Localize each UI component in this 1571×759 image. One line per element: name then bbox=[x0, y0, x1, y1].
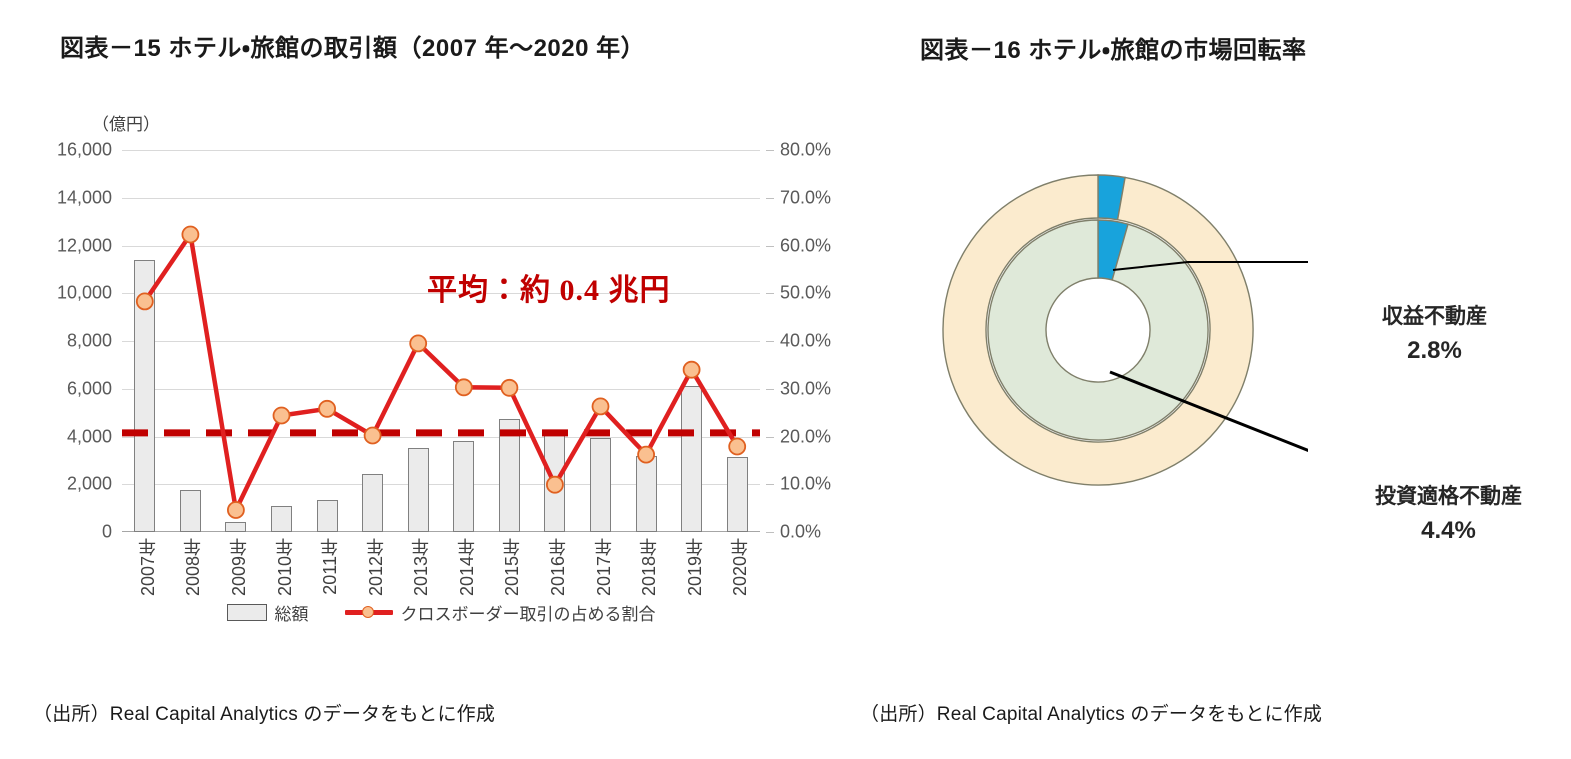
y2-tickmark-30 bbox=[766, 389, 774, 390]
figure-15-panel: 図表－15 ホテル・旅館の取引額（2007 年～2020 年） （億円） 0 2… bbox=[0, 0, 840, 759]
y2-tick-80: 80.0% bbox=[780, 140, 831, 161]
y-tick-14000: 14,000 bbox=[57, 187, 112, 208]
nested-donut-svg bbox=[888, 120, 1308, 540]
y2-tick-40: 40.0% bbox=[780, 331, 831, 352]
x-label-2019: 2019年 bbox=[682, 538, 708, 596]
average-annotation: 平均：約 0.4 兆円 bbox=[427, 265, 671, 309]
line-marker-2014 bbox=[456, 379, 472, 395]
x-label-2007: 2007年 bbox=[135, 538, 161, 596]
y2-tick-70: 70.0% bbox=[780, 187, 831, 208]
line-marker-2012 bbox=[365, 428, 381, 444]
callout-income-property: 収益不動産 2.8% bbox=[1382, 300, 1487, 365]
y-tick-0: 0 bbox=[102, 522, 112, 543]
y-tick-6000: 6,000 bbox=[67, 378, 112, 399]
y2-tickmark-50 bbox=[766, 293, 774, 294]
line-marker-2016 bbox=[547, 477, 563, 493]
legend-bar-swatch-icon bbox=[227, 604, 267, 621]
x-label-2010: 2010年 bbox=[272, 538, 298, 596]
figure-sheet: 図表－15 ホテル・旅館の取引額（2007 年～2020 年） （億円） 0 2… bbox=[0, 0, 1571, 759]
y2-tick-0: 0.0% bbox=[780, 522, 821, 543]
line-marker-2017 bbox=[593, 398, 609, 414]
figure-16-title: 図表－16 ホテル・旅館の市場回転率 bbox=[920, 30, 1307, 65]
figure-16-panel: 図表－16 ホテル・旅館の市場回転率 収益不動産 2.8% 投資適格不動産 4.… bbox=[840, 0, 1571, 759]
line-marker-2018 bbox=[638, 447, 654, 463]
y2-tickmark-10 bbox=[766, 484, 774, 485]
y-tick-2000: 2,000 bbox=[67, 474, 112, 495]
transaction-volume-combo-chart: （億円） 0 2,000 4,000 6,000 8,000 10,000 12… bbox=[0, 100, 840, 660]
y2-tickmark-60 bbox=[766, 246, 774, 247]
donut-inner-slice-1 bbox=[988, 220, 1208, 440]
callout-income-property-label: 収益不動産 bbox=[1382, 300, 1487, 330]
line-marker-2008 bbox=[182, 227, 198, 243]
callout-investment-grade-property: 投資適格不動産 4.4% bbox=[1375, 480, 1522, 545]
line-marker-2009 bbox=[228, 502, 244, 518]
y2-tick-60: 60.0% bbox=[780, 235, 831, 256]
y-tick-4000: 4,000 bbox=[67, 426, 112, 447]
y2-tick-20: 20.0% bbox=[780, 426, 831, 447]
y2-tickmark-70 bbox=[766, 198, 774, 199]
x-label-2014: 2014年 bbox=[454, 538, 480, 596]
primary-y-axis: 0 2,000 4,000 6,000 8,000 10,000 12,000 … bbox=[0, 150, 112, 532]
legend-item-total-amount[interactable]: 総額 bbox=[227, 600, 309, 625]
y2-tickmark-20 bbox=[766, 437, 774, 438]
y2-tickmark-0 bbox=[766, 532, 774, 533]
x-label-2013: 2013年 bbox=[408, 538, 434, 596]
legend-label-total-amount: 総額 bbox=[275, 600, 309, 625]
x-label-2009: 2009年 bbox=[226, 538, 252, 596]
callout-income-property-value: 2.8% bbox=[1382, 337, 1487, 365]
callout-investment-grade-property-value: 4.4% bbox=[1375, 517, 1522, 545]
y2-tick-50: 50.0% bbox=[780, 283, 831, 304]
y-tick-16000: 16,000 bbox=[57, 140, 112, 161]
line-marker-2010 bbox=[274, 408, 290, 424]
line-marker-2020 bbox=[729, 439, 745, 455]
line-series-cross-border-share bbox=[122, 150, 760, 532]
figure-16-source-note: （出所）Real Capital Analytics のデータをもとに作成 bbox=[860, 699, 1322, 726]
y2-tick-30: 30.0% bbox=[780, 378, 831, 399]
callout-investment-grade-property-label: 投資適格不動産 bbox=[1375, 480, 1522, 510]
legend-label-cross-border-share: クロスボーダー取引の占める割合 bbox=[401, 600, 656, 625]
y-tick-10000: 10,000 bbox=[57, 283, 112, 304]
figure-15-source-note: （出所）Real Capital Analytics のデータをもとに作成 bbox=[33, 699, 495, 726]
x-label-2008: 2008年 bbox=[180, 538, 206, 596]
x-label-2020: 2020年 bbox=[727, 538, 753, 596]
line-marker-2015 bbox=[501, 380, 517, 396]
x-label-2018: 2018年 bbox=[636, 538, 662, 596]
line-marker-2007 bbox=[137, 293, 153, 309]
x-label-2015: 2015年 bbox=[499, 538, 525, 596]
x-label-2011: 2011年 bbox=[317, 538, 343, 595]
line-marker-2011 bbox=[319, 401, 335, 417]
legend-item-cross-border-share[interactable]: クロスボーダー取引の占める割合 bbox=[345, 600, 656, 625]
y-axis-unit-label: （億円） bbox=[92, 110, 160, 135]
x-label-2017: 2017年 bbox=[591, 538, 617, 596]
line-marker-2013 bbox=[410, 335, 426, 351]
y-tick-12000: 12,000 bbox=[57, 235, 112, 256]
secondary-y-axis: 0.0% 10.0% 20.0% 30.0% 40.0% 50.0% 60.0%… bbox=[766, 150, 846, 532]
figure-15-title: 図表－15 ホテル・旅館の取引額（2007 年～2020 年） bbox=[60, 28, 645, 63]
legend-line-swatch-icon bbox=[345, 605, 393, 619]
x-label-2012: 2012年 bbox=[363, 538, 389, 596]
y-tick-8000: 8,000 bbox=[67, 331, 112, 352]
y2-tickmark-40 bbox=[766, 341, 774, 342]
y2-tick-10: 10.0% bbox=[780, 474, 831, 495]
chart-legend: 総額 クロスボーダー取引の占める割合 bbox=[122, 595, 760, 629]
plot-area: 2007年2008年2009年2010年2011年2012年2013年2014年… bbox=[122, 150, 760, 532]
x-label-2016: 2016年 bbox=[545, 538, 571, 596]
market-turnover-donut-chart: 収益不動産 2.8% 投資適格不動産 4.4% bbox=[888, 120, 1308, 540]
y2-tickmark-80 bbox=[766, 150, 774, 151]
line-marker-2019 bbox=[684, 362, 700, 378]
